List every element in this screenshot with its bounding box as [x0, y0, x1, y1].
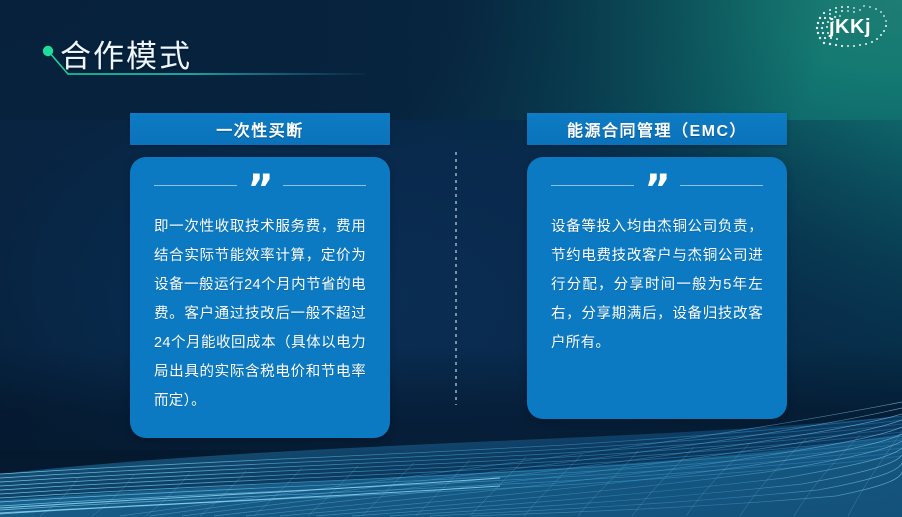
quote-decoration-right: ” [551, 157, 763, 213]
card-body-left: ” 即一次性收取技术服务费，费用结合实际节能效率计算，定价为设备一般运行24个月… [130, 157, 390, 438]
column-emc: 能源合同管理（EMC） ” 设备等投入均由杰铜公司负责，节约电费技改客户与杰铜公… [527, 113, 787, 419]
card-body-right: ” 设备等投入均由杰铜公司负责，节约电费技改客户与杰铜公司进行分配，分享时间一般… [527, 157, 787, 419]
column-one-time-purchase: 一次性买断 ” 即一次性收取技术服务费，费用结合实际节能效率计算，定价为设备一般… [130, 113, 390, 438]
quote-mark-icon: ” [247, 177, 272, 203]
quote-rule-left-start [154, 185, 237, 186]
page-title-block: 合作模式 [38, 40, 368, 88]
card-header-left[interactable]: 一次性买断 [130, 113, 390, 145]
jkkj-logo-svg: jKKj [808, 2, 894, 54]
page-title: 合作模式 [60, 38, 192, 76]
card-header-right-label: 能源合同管理（EMC） [567, 117, 747, 141]
quote-rule-right-end [680, 185, 763, 186]
quote-rule-right-start [551, 185, 634, 186]
card-header-right[interactable]: 能源合同管理（EMC） [527, 113, 787, 145]
card-header-left-label: 一次性买断 [216, 117, 304, 141]
svg-text:jKKj: jKKj [828, 16, 871, 38]
slide-root: jKKj 合作模式 一次性买断 ” [0, 0, 902, 517]
card-text-right: 设备等投入均由杰铜公司负责，节约电费技改客户与杰铜公司进行分配，分享时间一般为5… [551, 213, 763, 358]
jkkj-logo: jKKj [808, 2, 894, 54]
quote-mark-icon: ” [644, 177, 669, 203]
quote-decoration-left: ” [154, 157, 366, 213]
quote-rule-left-end [283, 185, 366, 186]
card-text-left: 即一次性收取技术服务费，费用结合实际节能效率计算，定价为设备一般运行24个月内节… [154, 213, 366, 416]
column-divider [455, 152, 457, 405]
